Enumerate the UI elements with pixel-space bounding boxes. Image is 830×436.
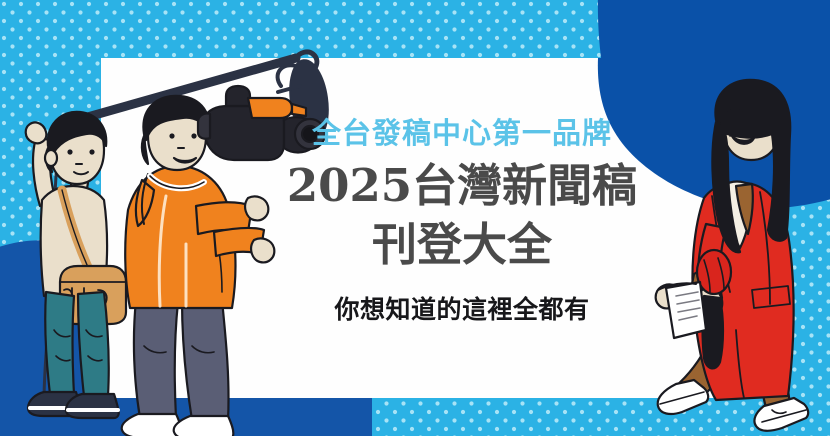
illustration-layer — [0, 0, 830, 436]
camera-operator — [122, 86, 325, 436]
boom-mic-operator — [26, 112, 126, 418]
promotional-banner: 全台發稿中心第一品牌 2025台灣新聞稿 刊登大全 你想知道的這裡全都有 — [0, 0, 830, 436]
news-reporter — [656, 80, 808, 431]
